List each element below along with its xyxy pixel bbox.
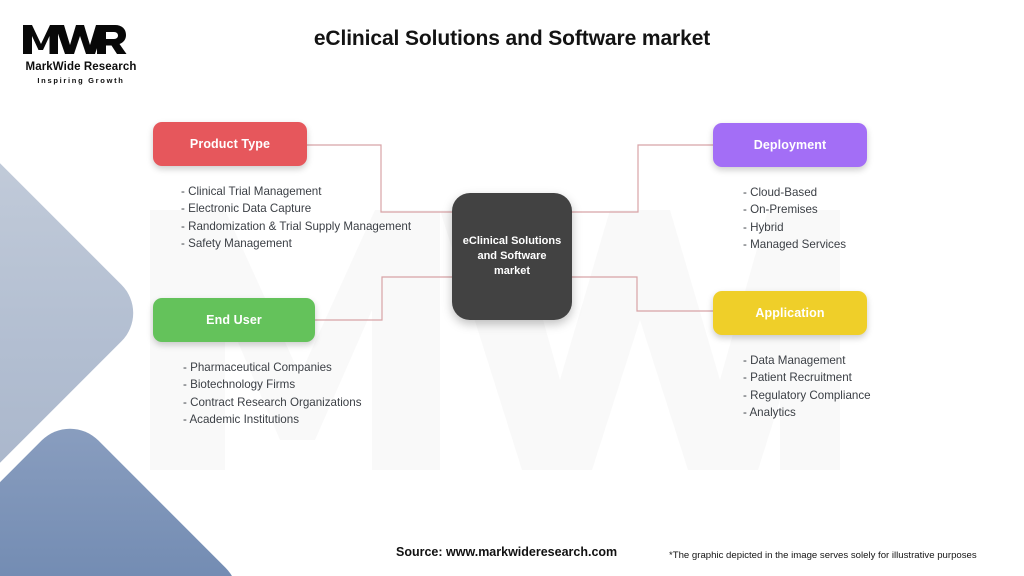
- center-node-label: eClinical Solutions and Software market: [452, 234, 572, 279]
- footer-source: Source: www.markwideresearch.com: [396, 545, 617, 559]
- list-item: - Contract Research Organizations: [183, 394, 362, 411]
- list-item: - Electronic Data Capture: [181, 200, 411, 217]
- page-title: eClinical Solutions and Software market: [0, 27, 1024, 51]
- list-item: - Hybrid: [743, 219, 867, 236]
- list-item: - Cloud-Based: [743, 184, 867, 201]
- connector-deployment: [572, 145, 713, 212]
- list-item: - Data Management: [743, 352, 871, 369]
- segment-product-type[interactable]: Product Type - Clinical Trial Management…: [153, 122, 411, 253]
- logo-wordmark: MarkWide Research: [16, 61, 146, 73]
- segment-application-chip[interactable]: Application: [713, 291, 867, 335]
- list-item: - Clinical Trial Management: [181, 183, 411, 200]
- segment-application[interactable]: Application - Data Management - Patient …: [713, 291, 871, 422]
- list-item: - Academic Institutions: [183, 411, 362, 428]
- list-item: - Pharmaceutical Companies: [183, 359, 362, 376]
- segment-end-user-chip[interactable]: End User: [153, 298, 315, 342]
- center-node[interactable]: eClinical Solutions and Software market: [452, 193, 572, 320]
- logo-tagline: Inspiring Growth: [16, 76, 146, 85]
- segment-application-label: Application: [755, 306, 824, 320]
- segment-product-type-chip[interactable]: Product Type: [153, 122, 307, 166]
- list-item: - On-Premises: [743, 201, 867, 218]
- footer-disclaimer: *The graphic depicted in the image serve…: [669, 550, 977, 561]
- list-item: - Regulatory Compliance: [743, 387, 871, 404]
- segment-deployment-chip[interactable]: Deployment: [713, 123, 867, 167]
- list-item: - Managed Services: [743, 236, 867, 253]
- segment-product-type-list: - Clinical Trial Management - Electronic…: [181, 183, 411, 253]
- connector-application: [572, 277, 713, 311]
- decorative-shape-dark: [0, 412, 254, 576]
- list-item: - Randomization & Trial Supply Managemen…: [181, 218, 411, 235]
- segment-end-user-list: - Pharmaceutical Companies - Biotechnolo…: [183, 359, 362, 429]
- list-item: - Safety Management: [181, 235, 411, 252]
- list-item: - Patient Recruitment: [743, 369, 871, 386]
- segment-end-user-label: End User: [206, 313, 262, 327]
- segment-application-list: - Data Management - Patient Recruitment …: [743, 352, 871, 422]
- decorative-shape-light: [0, 136, 150, 490]
- segment-deployment-label: Deployment: [754, 138, 827, 152]
- segment-product-type-label: Product Type: [190, 137, 270, 151]
- segment-end-user[interactable]: End User - Pharmaceutical Companies - Bi…: [153, 298, 362, 429]
- segment-deployment-list: - Cloud-Based - On-Premises - Hybrid - M…: [743, 184, 867, 254]
- list-item: - Analytics: [743, 404, 871, 421]
- segment-deployment[interactable]: Deployment - Cloud-Based - On-Premises -…: [713, 123, 867, 254]
- list-item: - Biotechnology Firms: [183, 376, 362, 393]
